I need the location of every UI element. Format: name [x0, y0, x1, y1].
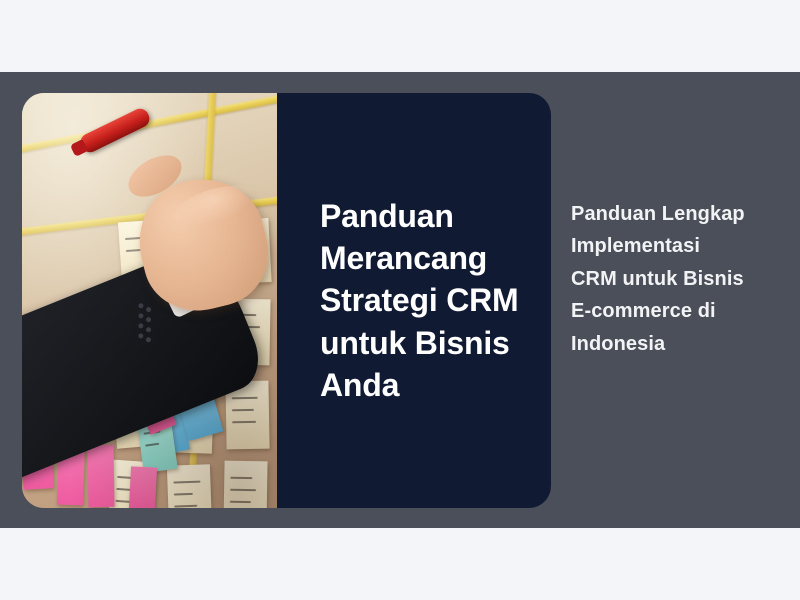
- article-thumbnail-photo: [22, 93, 277, 508]
- page-root: Panduan Merancang Strategi CRM untuk Bis…: [0, 0, 800, 600]
- article-card-title: Panduan Merancang Strategi CRM untuk Bis…: [277, 195, 551, 406]
- sleeve-buttons: [135, 303, 165, 345]
- article-card[interactable]: Panduan Merancang Strategi CRM untuk Bis…: [22, 93, 551, 508]
- article-heading: Panduan Lengkap Implementasi CRM untuk B…: [571, 198, 746, 360]
- article-title-panel: Panduan Merancang Strategi CRM untuk Bis…: [277, 93, 551, 508]
